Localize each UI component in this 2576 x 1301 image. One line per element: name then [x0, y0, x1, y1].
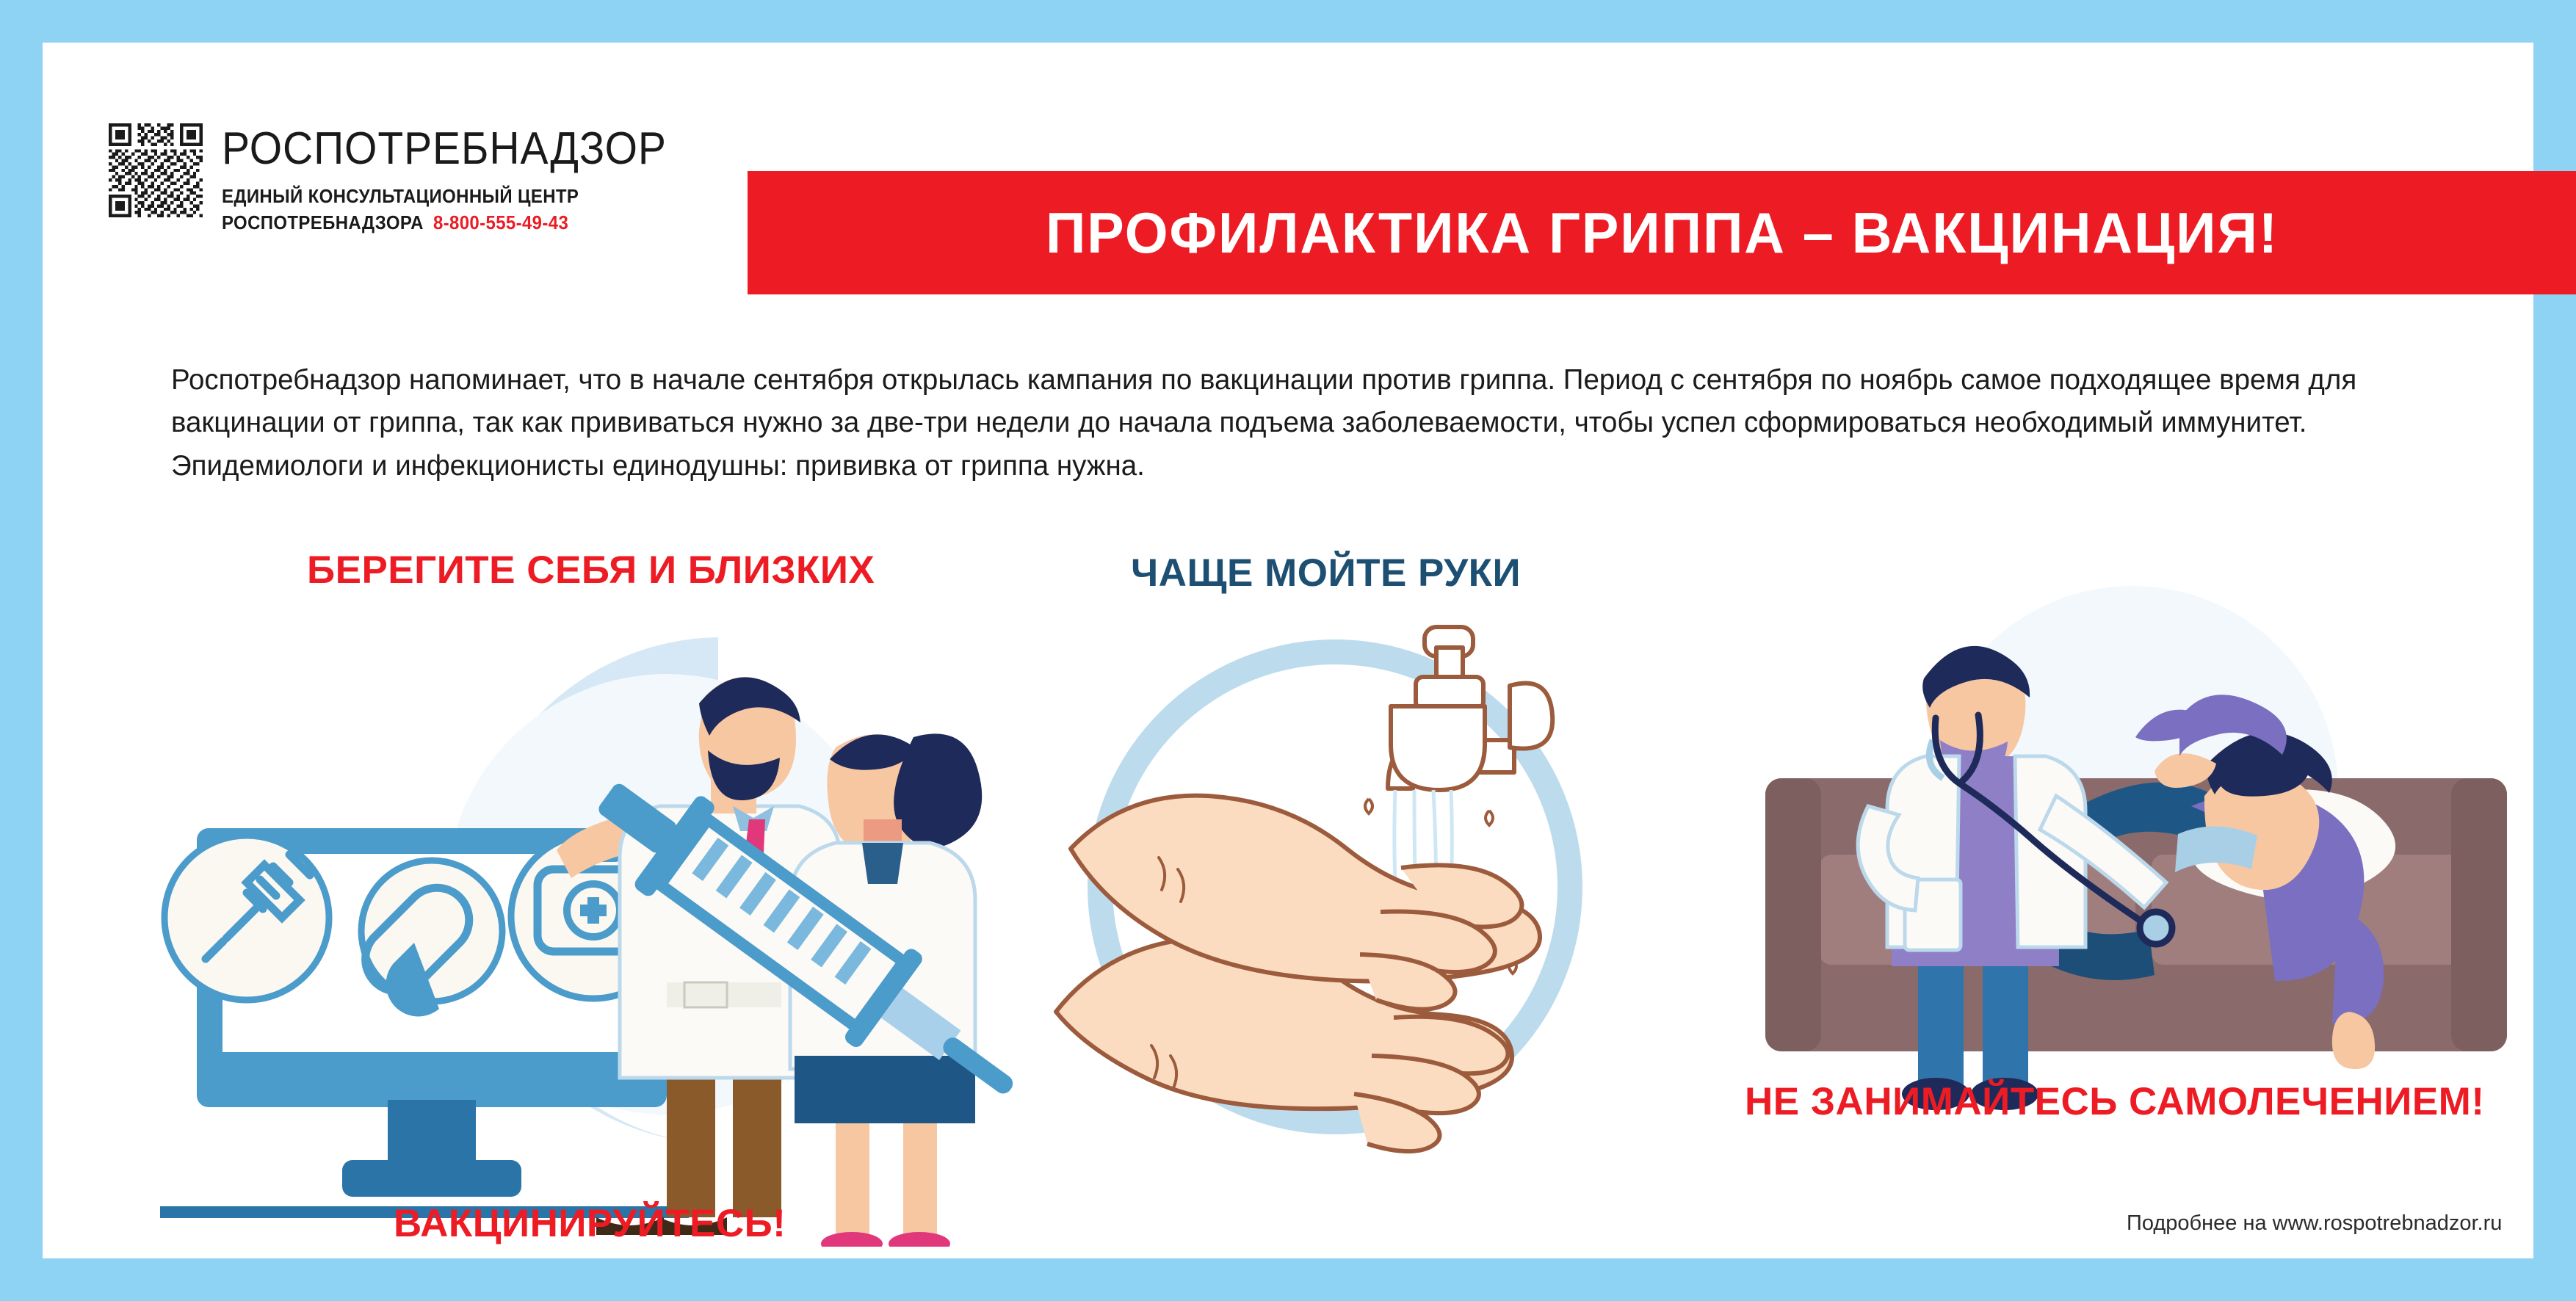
hotline-phone[interactable]: 8-800-555-49-43 [433, 213, 568, 233]
rospotrebnadzor-logo: РОСПОТРЕБНАДЗОР ЕДИНЫЙ КОНСУЛЬТАЦИОННЫЙ … [109, 123, 706, 236]
caption-get-vaccinated: ВАКЦИНИРУЙТЕСЬ! [394, 1201, 786, 1246]
qr-code-icon [109, 123, 203, 217]
footer-website-note[interactable]: Подробнее на www.rospotrebnadzor.ru [2127, 1211, 2502, 1236]
caption-wash-hands: ЧАЩЕ МОЙТЕ РУКИ [1131, 551, 1521, 595]
doctor-nurse-syringe-monitor-illustration [153, 586, 1019, 1247]
brand-name: РОСПОТРЕБНАДЗОР [222, 126, 667, 172]
consultation-center-line1: ЕДИНЫЙ КОНСУЛЬТАЦИОННЫЙ ЦЕНТР [222, 184, 676, 210]
headline-banner: ПРОФИЛАКТИКА ГРИППА – ВАКЦИНАЦИЯ! [748, 171, 2576, 294]
syringe-icon [164, 836, 329, 1000]
logo-text-block: РОСПОТРЕБНАДЗОР ЕДИНЫЙ КОНСУЛЬТАЦИОННЫЙ … [222, 123, 706, 236]
poster-root: РОСПОТРЕБНАДЗОР ЕДИНЫЙ КОНСУЛЬТАЦИОННЫЙ … [0, 0, 2576, 1301]
hands-washing-under-faucet-illustration [1049, 615, 1621, 1159]
caption-no-self-medication: НЕ ЗАНИМАЙТЕСЬ САМОЛЕЧЕНИЕМ! [1745, 1079, 2484, 1124]
doctor-examining-patient-on-sofa-illustration [1724, 498, 2547, 1115]
headline-title: ПРОФИЛАКТИКА ГРИППА – ВАКЦИНАЦИЯ! [1045, 200, 2278, 267]
intro-paragraph: Роспотребнадзор напоминает, что в начале… [171, 359, 2506, 488]
consultation-center-org: РОСПОТРЕБНАДЗОРА [222, 213, 424, 233]
poster-card: РОСПОТРЕБНАДЗОР ЕДИНЫЙ КОНСУЛЬТАЦИОННЫЙ … [43, 43, 2533, 1258]
consultation-center-line2: РОСПОТРЕБНАДЗОРА8-800-555-49-43 [222, 210, 676, 236]
monitor-with-medical-icons [160, 828, 689, 1218]
